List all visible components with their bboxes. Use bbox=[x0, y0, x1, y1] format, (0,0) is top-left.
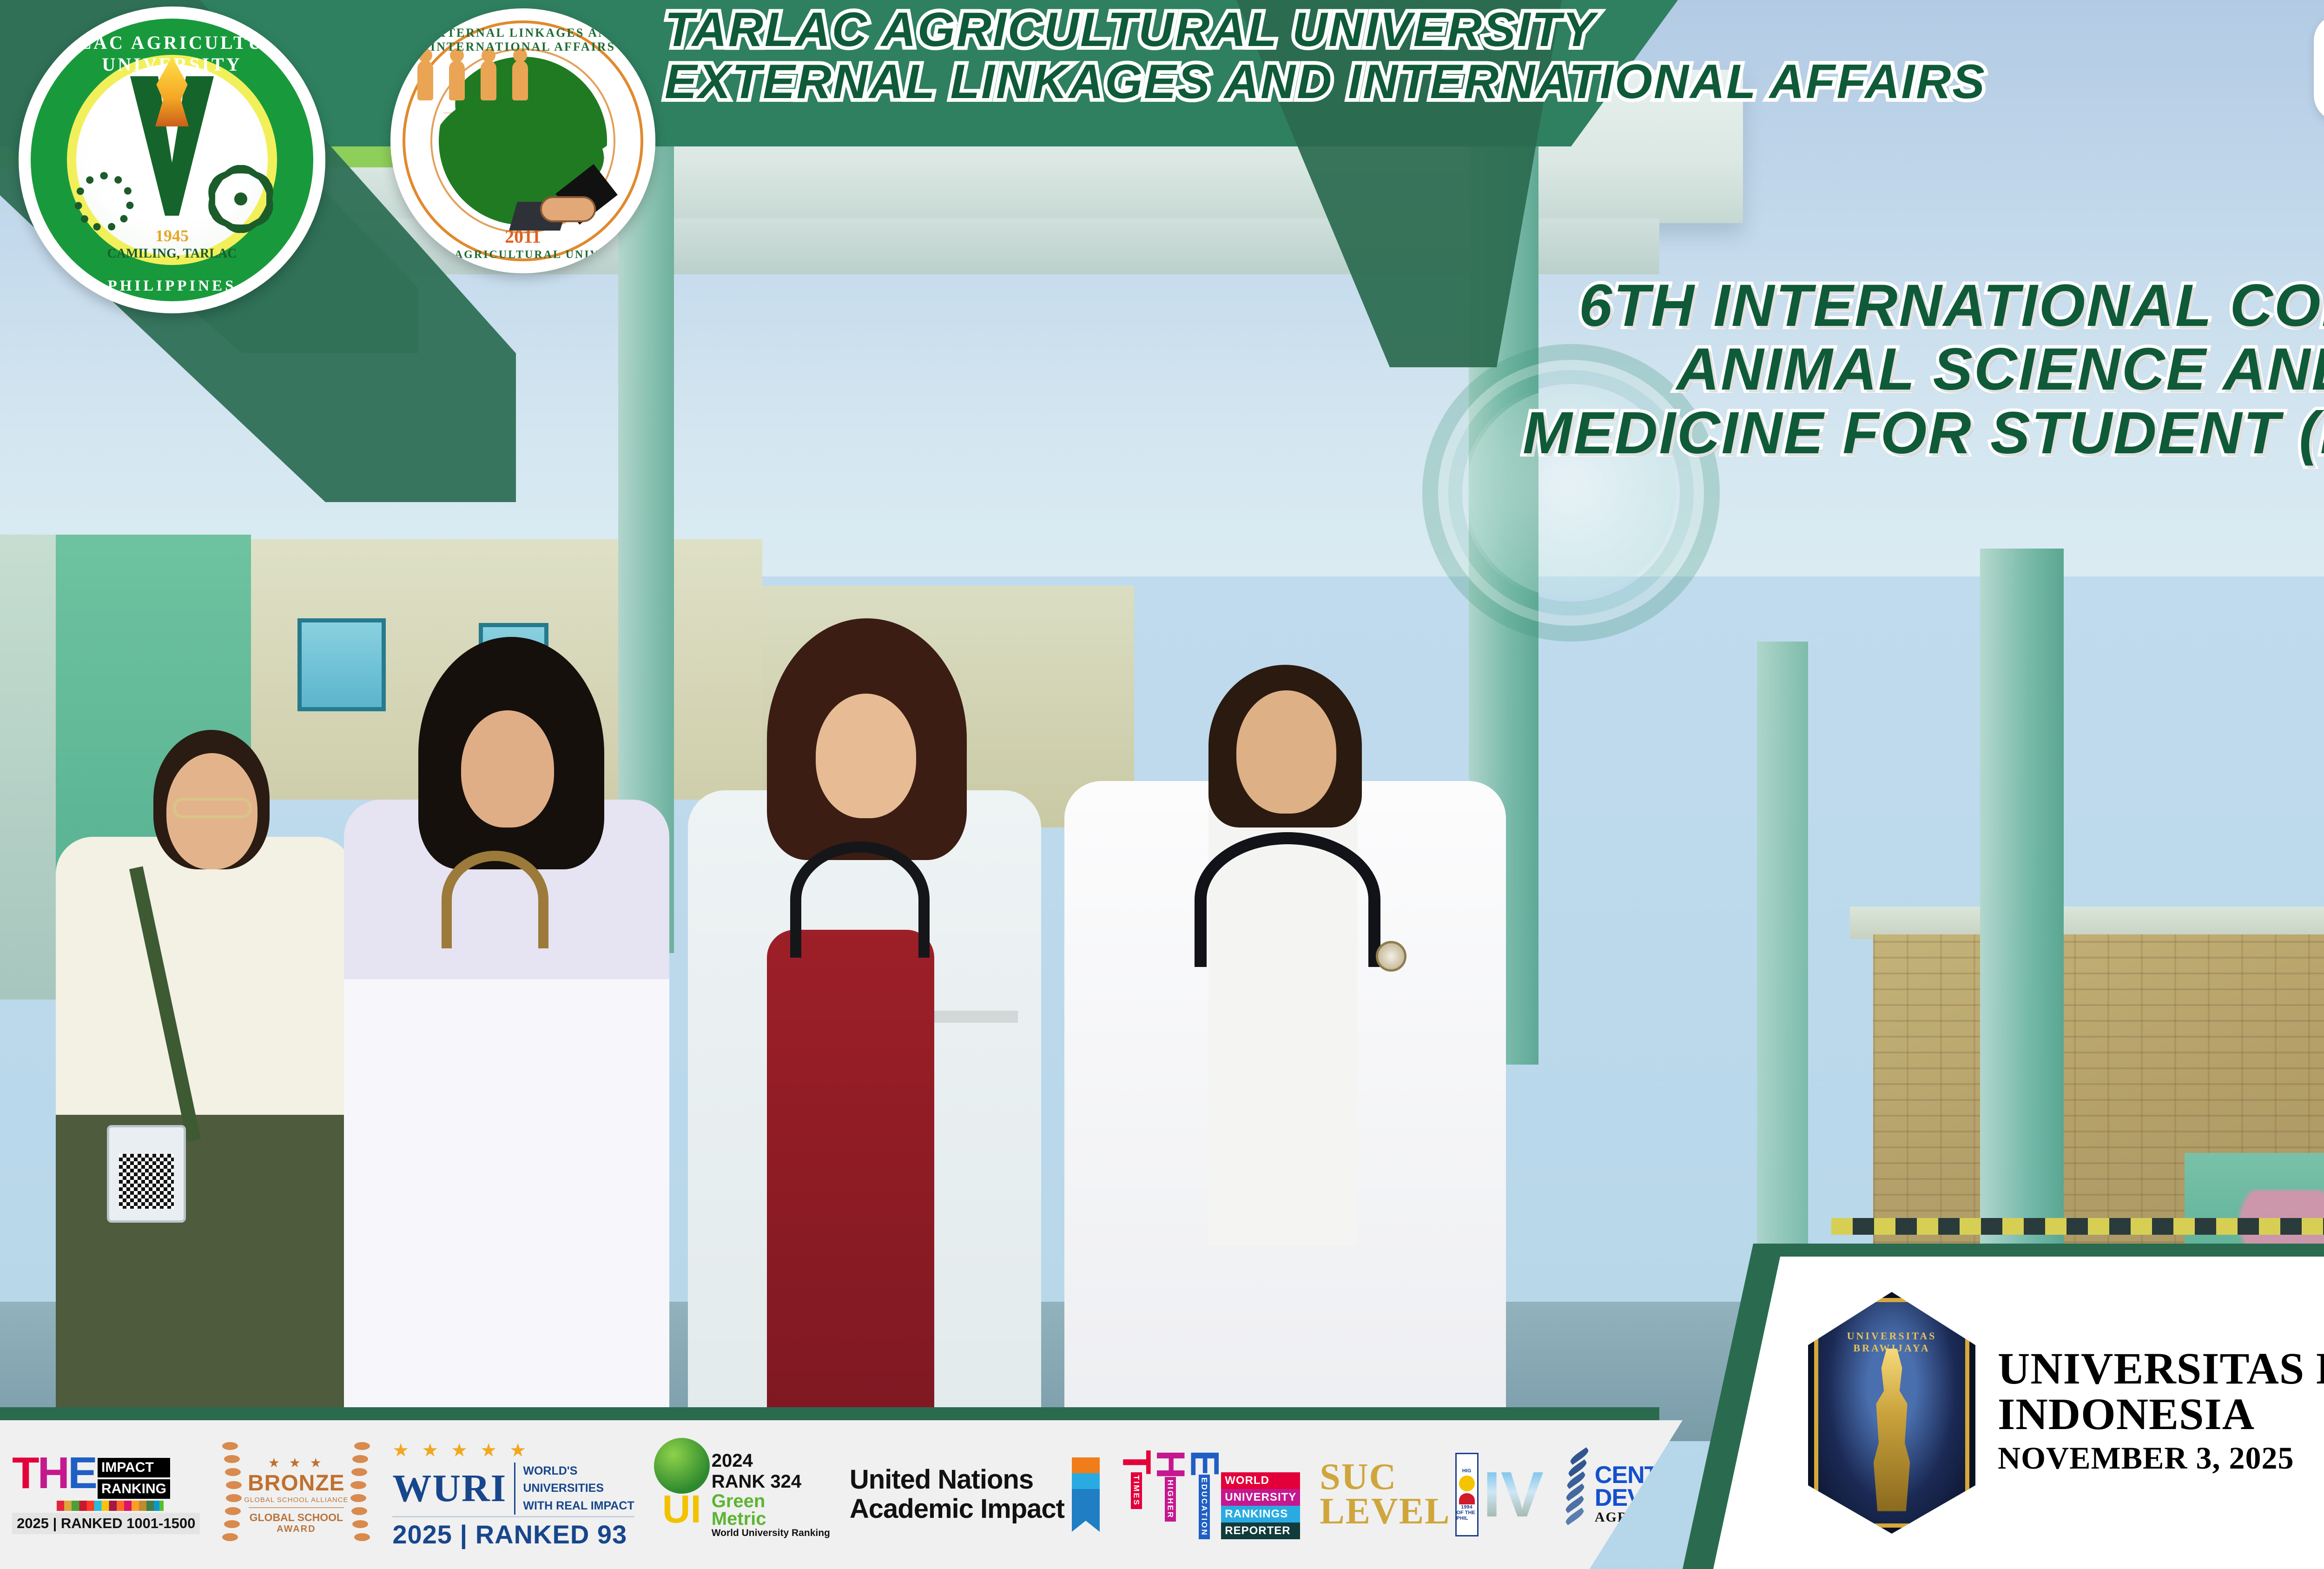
conference-poster: TARLAC AGRICULTURAL UNIVERSITY 1945 CAMI… bbox=[0, 0, 2324, 1569]
bronze-line-3: AWARD bbox=[244, 1524, 348, 1535]
unai-line-1: United Nations bbox=[850, 1465, 1064, 1495]
greenmetric-rank: RANK 324 bbox=[712, 1471, 830, 1492]
student-4 bbox=[1055, 511, 1520, 1441]
wuri-tag-1: WORLD'S bbox=[523, 1463, 634, 1480]
reporter-row-university: UNIVERSITY bbox=[1221, 1489, 1300, 1506]
title-line-3: MEDICINE FOR STUDENT (ICAVETS-VEIN) bbox=[1190, 402, 2324, 465]
ched-seal-icon: HIG 1994 OF THE PHIL bbox=[1455, 1453, 1479, 1536]
wuri-tag-2: UNIVERSITIES bbox=[523, 1480, 634, 1497]
wuri-stars: ★ ★ ★ ★ ★ bbox=[392, 1440, 634, 1461]
reporter-vsub-education: EDUCATION bbox=[1199, 1475, 1210, 1539]
greenmetric-metric: Metric bbox=[712, 1510, 830, 1528]
tau-seal-year: 1945 bbox=[19, 226, 325, 245]
elia-seal-arc-bottom: TARLAC AGRICULTURAL UNIVERSITY bbox=[390, 249, 655, 261]
laurel-left-icon bbox=[222, 1439, 244, 1550]
badge-wuri: ★ ★ ★ ★ ★ WURI WORLD'S UNIVERSITIES WITH… bbox=[392, 1440, 634, 1550]
greenmetric-sub: World University Ranking bbox=[712, 1528, 830, 1539]
student-2-head bbox=[461, 710, 554, 828]
greenmetric-globe-icon bbox=[654, 1438, 710, 1494]
ched-year: 1994 bbox=[1461, 1504, 1472, 1510]
title-line-2: ANIMAL SCIENCE AND VETERINARY bbox=[1190, 338, 2324, 402]
badge-un-academic-impact: United Nations Academic Impact bbox=[850, 1457, 1100, 1532]
bronze-stars: ★ ★ ★ bbox=[244, 1455, 348, 1470]
elia-handshake-icon bbox=[513, 175, 611, 231]
the-impact-label-2: RANKING bbox=[98, 1479, 170, 1499]
student-1 bbox=[42, 595, 367, 1441]
wuri-rank: 2025 | RANKED 93 bbox=[392, 1516, 634, 1549]
the-brand-letters: T H E bbox=[12, 1455, 96, 1492]
student-2 bbox=[325, 558, 679, 1441]
sdg-color-bar bbox=[57, 1501, 164, 1511]
student-3-head bbox=[816, 694, 916, 818]
badge-the-impact-ranking: T H E IMPACT RANKING 2025 | RANKED 1001-… bbox=[12, 1455, 200, 1534]
wuri-name: WURI bbox=[392, 1471, 507, 1506]
reporter-vsub-times: TIMES bbox=[1131, 1472, 1142, 1509]
unai-line-2: Academic Impact bbox=[850, 1495, 1064, 1524]
student-3-name-tag bbox=[934, 1011, 1018, 1023]
venue-country: INDONESIA bbox=[1998, 1391, 2324, 1437]
unai-bookmark-icon bbox=[1072, 1457, 1100, 1532]
laurel-right-icon bbox=[349, 1439, 370, 1550]
tau-gear-icon bbox=[74, 172, 134, 232]
venue-text: UNIVERSITAS BRAWIJAYA INDONESIA NOVEMBER… bbox=[1998, 1346, 2324, 1480]
suc-line-1: SUC bbox=[1320, 1460, 1450, 1495]
reporter-letter-e: E bbox=[1187, 1450, 1221, 1475]
bronze-title: BRONZE bbox=[244, 1470, 348, 1496]
the-impact-rank: 2025 | RANKED 1001-1500 bbox=[12, 1513, 200, 1534]
elia-seal-arc-top: EXTERNAL LINKAGES AND INTERNATIONAL AFFA… bbox=[390, 26, 655, 54]
frond-blue-icon bbox=[1563, 1453, 1592, 1536]
suc-numeral: IV bbox=[1483, 1469, 1544, 1520]
greenmetric-green: Green bbox=[712, 1492, 830, 1510]
badge-the-reporter: T TIMES H HIGHER E EDUCATION WORLD UNIVE… bbox=[1119, 1450, 1300, 1539]
brawijaya-statue-icon bbox=[1859, 1349, 1924, 1511]
the-letter-e: E bbox=[68, 1455, 96, 1492]
reporter-row-reporter: REPORTER bbox=[1221, 1523, 1300, 1539]
greenmetric-ui: UI bbox=[662, 1494, 701, 1525]
org-line-2: EXTERNAL LINKAGES AND INTERNATIONAL AFFA… bbox=[665, 56, 1986, 108]
ched-bottom-text: OF THE PHIL bbox=[1457, 1510, 1477, 1521]
student-4-lapel-pin bbox=[1376, 941, 1406, 972]
ched-sun-icon bbox=[1459, 1476, 1475, 1491]
student-4-head bbox=[1236, 690, 1336, 814]
brawijaya-logo: UNIVERSITAS BRAWIJAYA bbox=[1808, 1292, 1975, 1534]
bronze-sub: GLOBAL SCHOOL ALLIANCE bbox=[244, 1496, 348, 1504]
accreditation-badge-strip: T H E IMPACT RANKING 2025 | RANKED 1001-… bbox=[0, 1420, 1683, 1569]
suc-line-2: LEVEL bbox=[1320, 1495, 1450, 1529]
wuri-tag-3: WITH REAL IMPACT bbox=[523, 1497, 634, 1515]
reporter-vsub-higher: HIGHER bbox=[1165, 1477, 1176, 1522]
bronze-line-2: GLOBAL SCHOOL bbox=[244, 1511, 348, 1524]
the-letter-h: H bbox=[38, 1455, 68, 1492]
reporter-row-world: WORLD bbox=[1221, 1472, 1300, 1489]
tau-seal: TARLAC AGRICULTURAL UNIVERSITY 1945 CAMI… bbox=[19, 7, 325, 313]
tau-atom-icon bbox=[211, 169, 271, 229]
student-4-stethoscope bbox=[1195, 832, 1380, 967]
the-impact-label-1: IMPACT bbox=[98, 1458, 170, 1477]
greenmetric-year: 2024 bbox=[712, 1450, 830, 1471]
student-3-red-dress bbox=[767, 930, 934, 1441]
student-1-body bbox=[56, 837, 353, 1441]
title-line-1: 6TH INTERNATIONAL CONFERENCE ON bbox=[1190, 274, 2324, 338]
tau-seal-arc-bottom: • PHILIPPINES • bbox=[19, 278, 325, 295]
ched-top-text: HIG bbox=[1462, 1468, 1472, 1474]
reporter-row-rankings: RANKINGS bbox=[1221, 1506, 1300, 1523]
elia-seal-year: 2011 bbox=[390, 225, 655, 247]
venue-date: NOVEMBER 3, 2025 bbox=[1998, 1437, 2324, 1480]
badge-bronze-global-school: ★ ★ ★ BRONZE GLOBAL SCHOOL ALLIANCE GLOB… bbox=[219, 1437, 373, 1553]
badge-ui-greenmetric: UI 2024 RANK 324 Green Metric World Univ… bbox=[654, 1450, 830, 1539]
conference-title: 6TH INTERNATIONAL CONFERENCE ON ANIMAL S… bbox=[1190, 274, 2324, 465]
student-1-qr-code bbox=[119, 1154, 174, 1209]
bottom-green-rule bbox=[0, 1407, 1659, 1420]
elia-seal: EXTERNAL LINKAGES AND INTERNATIONAL AFFA… bbox=[390, 8, 655, 273]
tau-seal-city: CAMILING, TARLAC bbox=[19, 246, 325, 261]
student-2-stethoscope bbox=[442, 851, 548, 948]
badge-suc-level-iv: SUC LEVEL HIG 1994 OF THE PHIL IV bbox=[1320, 1453, 1544, 1536]
org-header-text: TARLAC AGRICULTURAL UNIVERSITY EXTERNAL … bbox=[665, 4, 1986, 108]
student-3 bbox=[674, 535, 1055, 1441]
the-letter-t: T bbox=[12, 1455, 38, 1492]
org-line-1: TARLAC AGRICULTURAL UNIVERSITY bbox=[665, 4, 1986, 56]
ched-arch-icon bbox=[1459, 1493, 1475, 1504]
student-3-stethoscope bbox=[790, 841, 930, 958]
venue-university: UNIVERSITAS BRAWIJAYA bbox=[1998, 1346, 2324, 1391]
student-1-glasses bbox=[173, 798, 252, 818]
